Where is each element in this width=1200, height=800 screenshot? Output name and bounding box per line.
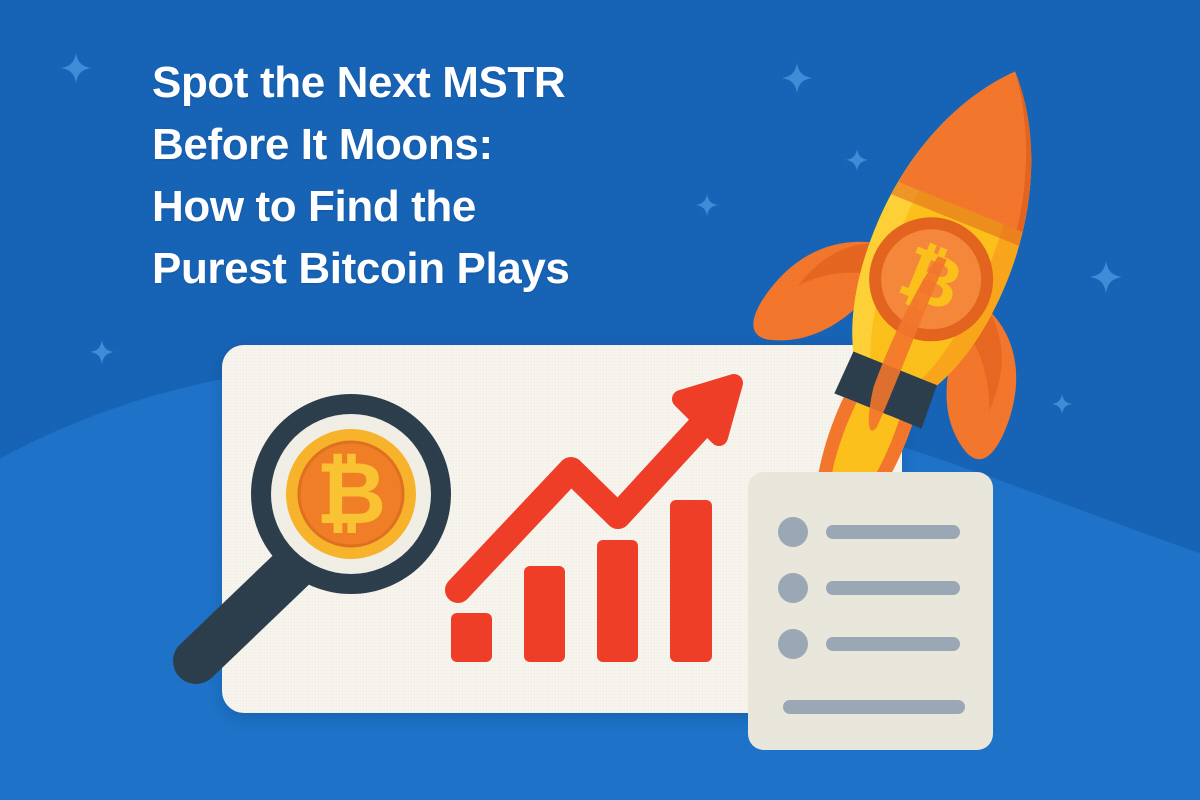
hero-illustration: Spot the Next MSTR Before It Moons: How … (0, 0, 1200, 800)
page-title: Spot the Next MSTR Before It Moons: How … (152, 52, 752, 300)
card-texture (222, 345, 902, 713)
illustration-card (222, 345, 902, 713)
